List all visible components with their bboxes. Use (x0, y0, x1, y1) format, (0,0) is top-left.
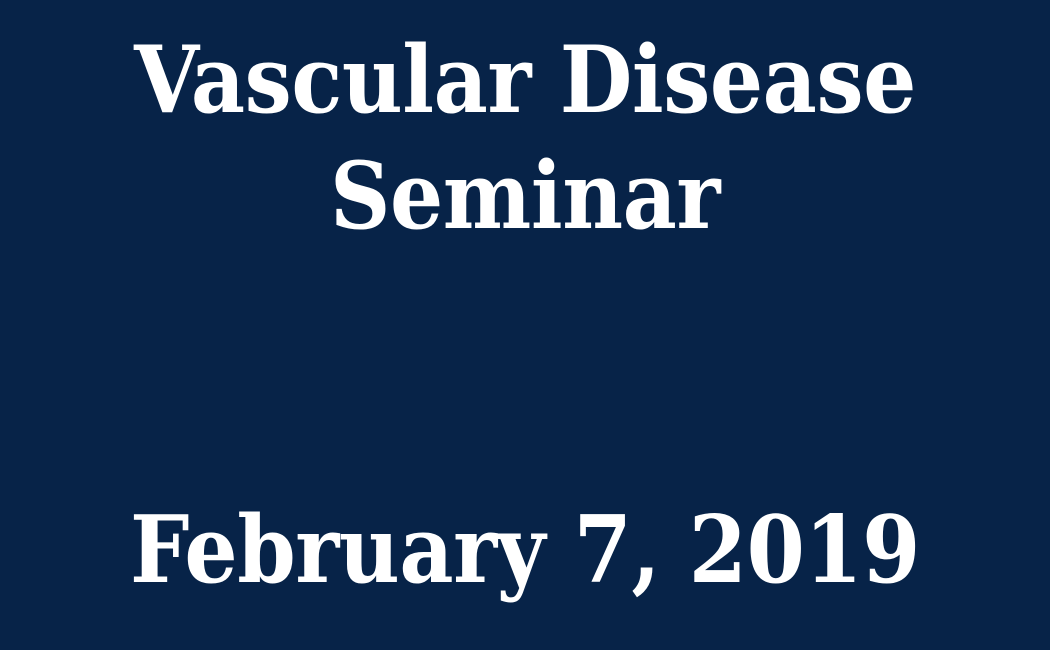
slide-title-line-1: Vascular Disease (89, 22, 962, 138)
slide-body-region (0, 270, 1050, 485)
slide-date-block: February 7, 2019 (0, 492, 1050, 608)
slide-title-block: Vascular Disease Seminar (0, 22, 1050, 254)
slide-title-line-2: Seminar (89, 138, 962, 254)
slide-date-text: February 7, 2019 (89, 492, 962, 608)
presentation-title-slide: Vascular Disease Seminar February 7, 201… (0, 0, 1050, 650)
